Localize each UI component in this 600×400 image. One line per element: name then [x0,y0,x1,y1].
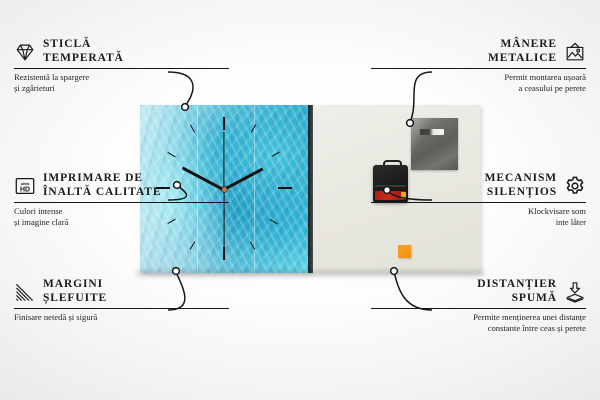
svg-text:HD: HD [20,186,30,193]
callout-glass-title: STICLĂ TEMPERATĂ [43,38,124,65]
callout-glass-rule [14,68,229,69]
callout-spacer[interactable]: DISTANȚIER SPUMĂ Permite menținerea unei… [371,278,586,334]
callout-handles-title: MÂNERE METALICE [488,38,557,65]
callout-edges-sub: Finisare netedă și sigură [14,312,229,323]
callout-glass-sub: Rezistentă la spargere și zgârieturi [14,72,229,94]
callout-print-rule [14,202,229,203]
callout-print-title: IMPRIMARE DE ÎNALTĂ CALITATE [43,172,161,199]
callout-handles-sub: Permit montarea ușoară a ceasului pe per… [371,72,586,94]
callout-glass-head: STICLĂ TEMPERATĂ [14,38,229,65]
callout-mechanism-title: MECANISM SILENȚIOS [485,172,557,199]
hatched-edge-icon [14,281,36,303]
callout-spacer-rule [371,308,586,309]
callout-handles-rule [371,68,586,69]
callout-spacer-title: DISTANȚIER SPUMĂ [477,278,557,305]
callout-edges-title: MARGINI ȘLEFUITE [43,278,107,305]
callout-spacer-head: DISTANȚIER SPUMĂ [371,278,586,305]
press-down-pad-icon [564,281,586,303]
callout-edges[interactable]: MARGINI ȘLEFUITE Finisare netedă și sigu… [14,278,229,323]
callout-mechanism-rule [371,202,586,203]
callout-spacer-sub: Permite menținerea unei distanțe constan… [371,312,586,334]
callout-print-head: ultra HD IMPRIMARE DE ÎNALTĂ CALITATE [14,172,229,199]
callout-handles[interactable]: MÂNERE METALICE Permit montarea ușoară a… [371,38,586,94]
picture-frame-hanger-icon [564,41,586,63]
metal-hanger-plate [411,118,458,170]
callout-edges-head: MARGINI ȘLEFUITE [14,278,229,305]
callout-glass[interactable]: STICLĂ TEMPERATĂ Rezistentă la spargere … [14,38,229,94]
svg-text:ultra: ultra [21,181,30,186]
clock-tick-3 [278,187,292,189]
callout-mechanism-sub: Klockvisare som inte låter [371,206,586,228]
callout-mechanism[interactable]: MECANISM SILENȚIOS Klockvisare som inte … [371,172,586,228]
clock-tick-12 [223,117,225,130]
hanger-slot [420,129,444,135]
gear-icon [564,175,586,197]
callout-handles-head: MÂNERE METALICE [371,38,586,65]
callout-edges-rule [14,308,229,309]
diamond-icon [14,41,36,63]
callout-print-sub: Culori intense și imagine clară [14,206,229,228]
callout-mechanism-head: MECANISM SILENȚIOS [371,172,586,199]
infographic-canvas: STICLĂ TEMPERATĂ Rezistentă la spargere … [0,0,600,400]
foam-spacer [398,245,411,258]
callout-print[interactable]: ultra HD IMPRIMARE DE ÎNALTĂ CALITATE Cu… [14,172,229,228]
ultra-hd-icon: ultra HD [14,175,36,197]
